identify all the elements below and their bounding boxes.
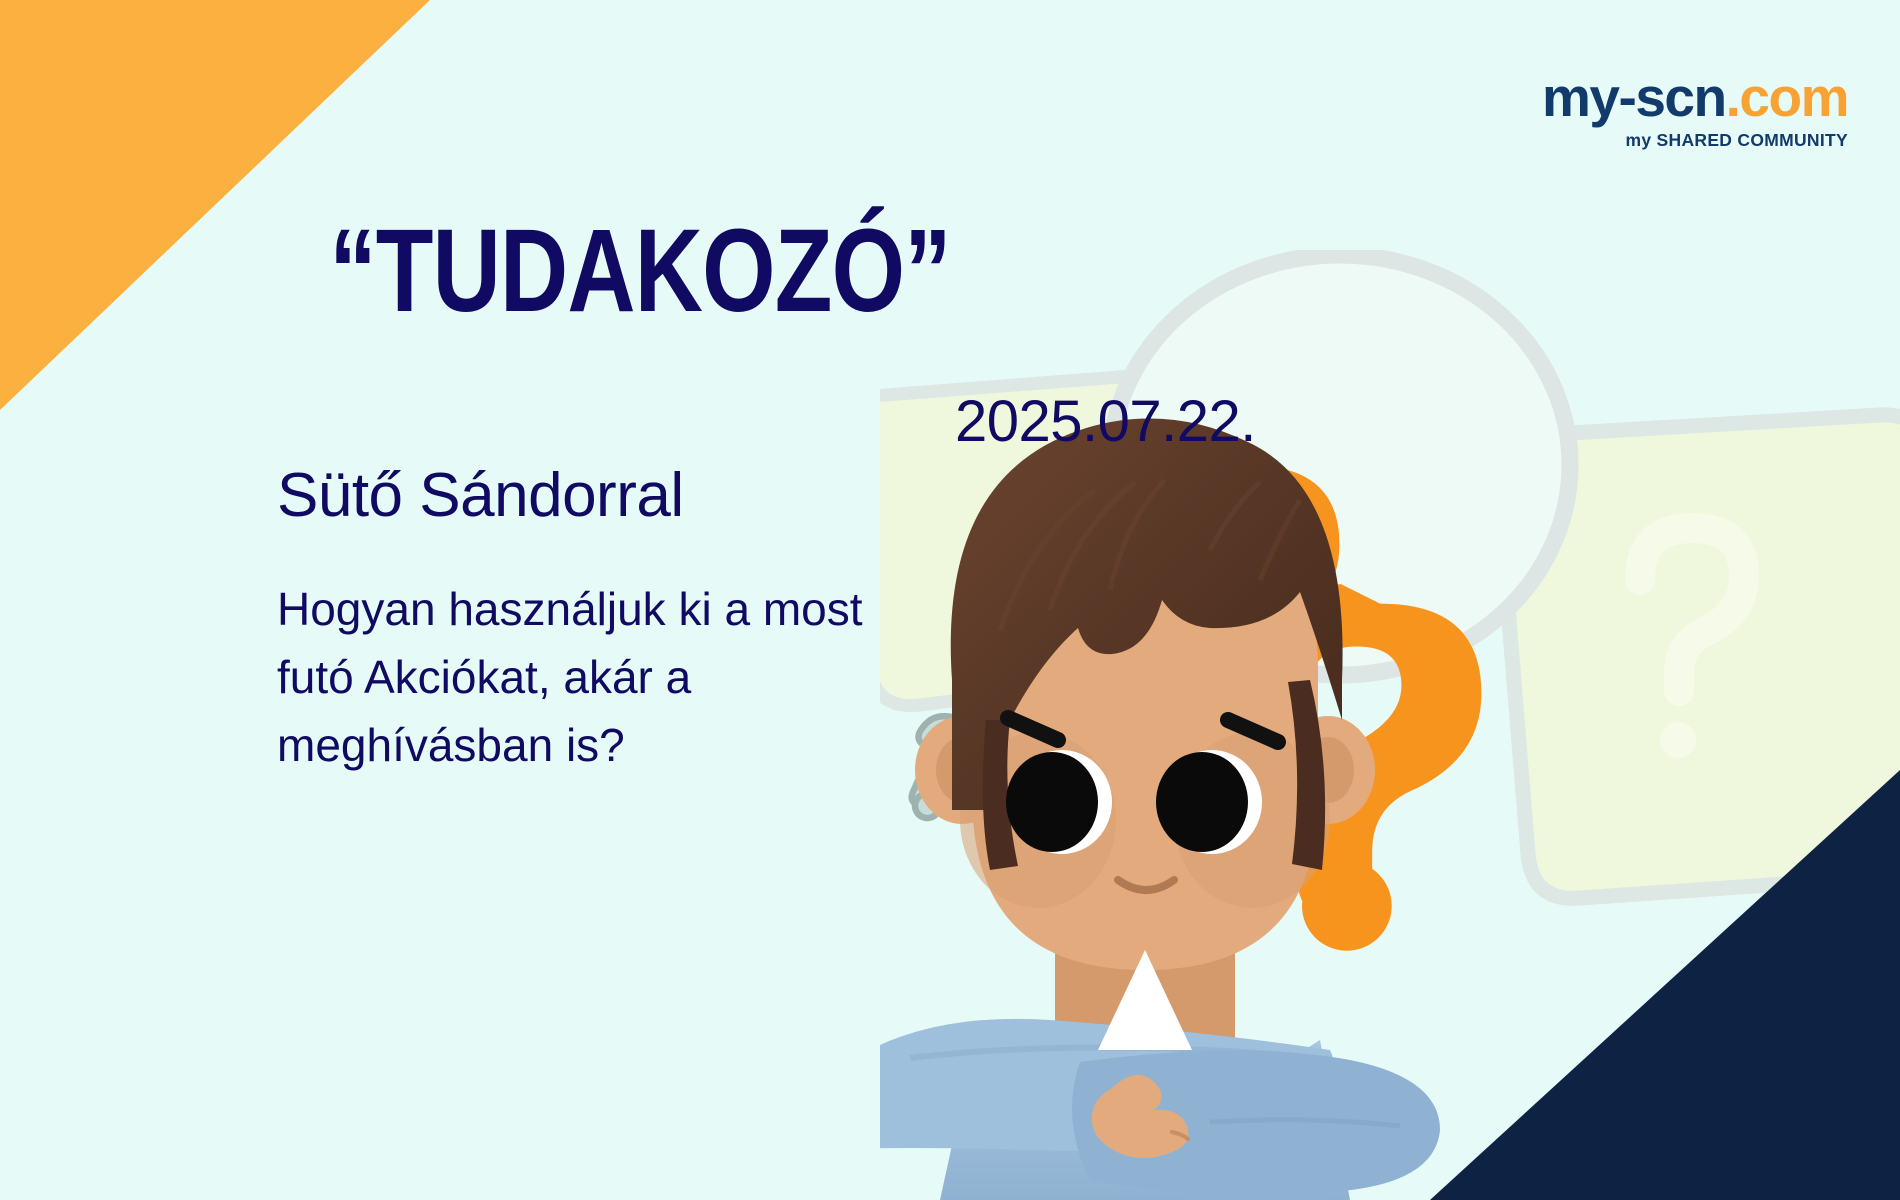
logo-wordmark: my-scn.com — [1542, 70, 1848, 125]
logo-tagline: my SHARED COMMUNITY — [1542, 132, 1848, 150]
character-body — [880, 940, 1440, 1200]
logo-primary-text: my-scn — [1542, 66, 1726, 128]
event-date: 2025.07.22. — [955, 388, 1256, 455]
logo-suffix-text: .com — [1726, 66, 1848, 128]
guest-name: Sütő Sándorral — [277, 460, 684, 531]
logo-tagline-upper: SHARED COMMUNITY — [1657, 130, 1848, 150]
page-title: “TUDAKOZÓ” — [128, 212, 1152, 330]
question-text: Hogyan használjuk ki a most futó Akcióka… — [277, 575, 997, 779]
logo-tagline-lower: my — [1625, 130, 1651, 150]
bottom-right-navy-corner — [1430, 770, 1900, 1200]
brand-logo[interactable]: my-scn.com my SHARED COMMUNITY — [1542, 70, 1848, 150]
slide-canvas: my-scn.com my SHARED COMMUNITY “TUDAKOZÓ… — [0, 0, 1900, 1200]
